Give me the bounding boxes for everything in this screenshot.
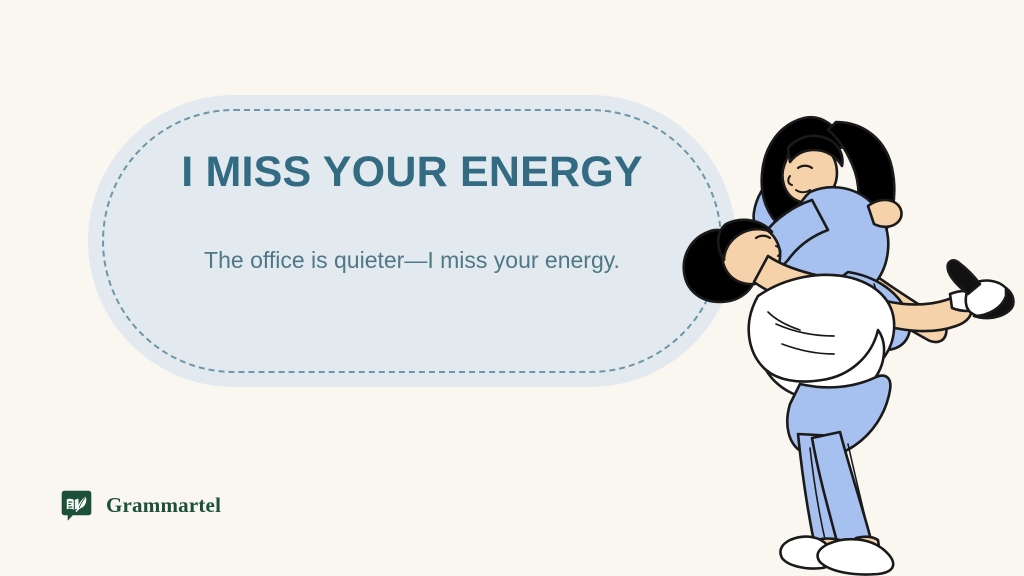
book-quill-speech-bubble-icon bbox=[58, 487, 95, 524]
brand-logo[interactable]: Grammartel bbox=[58, 487, 221, 524]
slide-canvas: I MISS YOUR ENERGY The office is quieter… bbox=[0, 0, 1024, 576]
text-block: I MISS YOUR ENERGY The office is quieter… bbox=[88, 150, 736, 279]
page-title: I MISS YOUR ENERGY bbox=[88, 150, 736, 195]
couple-illustration-svg bbox=[672, 88, 1024, 576]
page-subtitle: The office is quieter—I miss your energy… bbox=[197, 242, 627, 279]
brand-name: Grammartel bbox=[106, 493, 221, 518]
couple-embrace-lift-illustration bbox=[672, 88, 1024, 576]
